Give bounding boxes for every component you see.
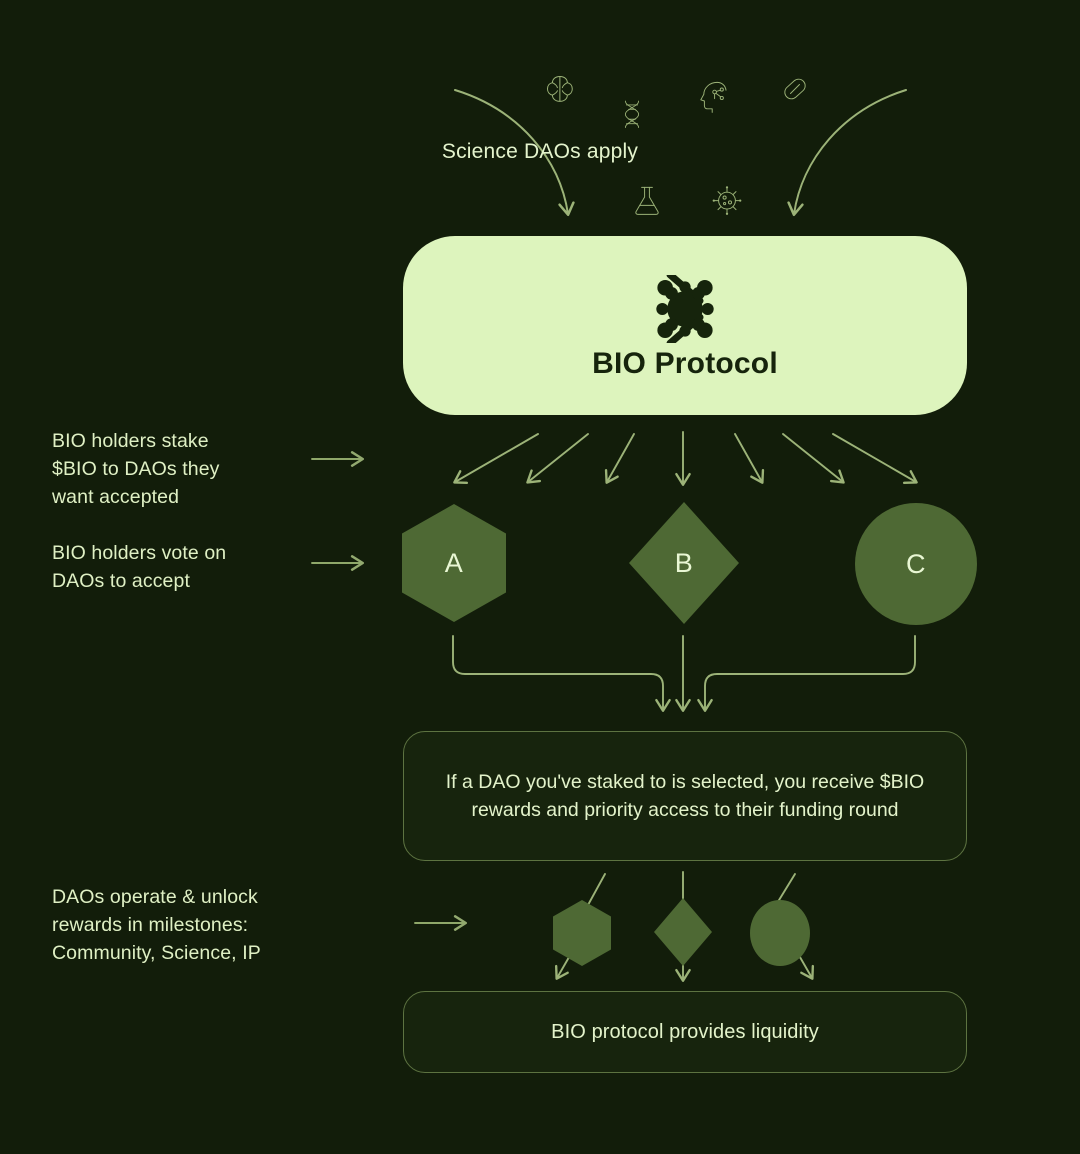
fanout-arrows (455, 432, 916, 484)
head-neural-icon (701, 82, 726, 112)
dna-icon (625, 101, 638, 127)
dao-node-a-label: A (445, 548, 464, 579)
bio-protocol-logo (649, 275, 721, 343)
milestone-node-c[interactable] (750, 900, 810, 966)
dao-node-b-label: B (675, 548, 694, 579)
liquidity-box: BIO protocol provides liquidity (403, 991, 967, 1073)
flask-icon (636, 187, 658, 214)
dao-node-c-label: C (906, 549, 926, 580)
milestone-node-b[interactable] (654, 898, 712, 966)
converge-connectors (453, 636, 915, 710)
liquidity-text: BIO protocol provides liquidity (551, 1021, 819, 1044)
brain-icon (547, 76, 572, 101)
reward-callout-box: If a DAO you've staked to is selected, y… (403, 731, 967, 861)
bio-protocol-card[interactable]: BIO Protocol (403, 236, 967, 415)
bio-protocol-title: BIO Protocol (592, 347, 778, 381)
label-stake: BIO holders stake $BIO to DAOs they want… (52, 427, 302, 511)
dao-node-a[interactable]: A (402, 504, 506, 622)
dao-node-b[interactable]: B (629, 502, 739, 624)
pill-icon (782, 76, 808, 101)
science-daos-apply-caption: Science DAOs apply (0, 140, 1080, 164)
dao-node-c[interactable]: C (855, 503, 977, 625)
milestone-node-a[interactable] (553, 900, 611, 966)
virus-icon (713, 186, 742, 215)
label-vote: BIO holders vote on DAOs to accept (52, 539, 302, 595)
reward-callout-text: If a DAO you've staked to is selected, y… (434, 768, 936, 824)
diagram-canvas: Science DAOs apply BIO Protoco (0, 0, 1080, 1154)
milestone-inbound-lines (588, 872, 795, 905)
label-milestones: DAOs operate & unlock rewards in milesto… (52, 883, 342, 967)
